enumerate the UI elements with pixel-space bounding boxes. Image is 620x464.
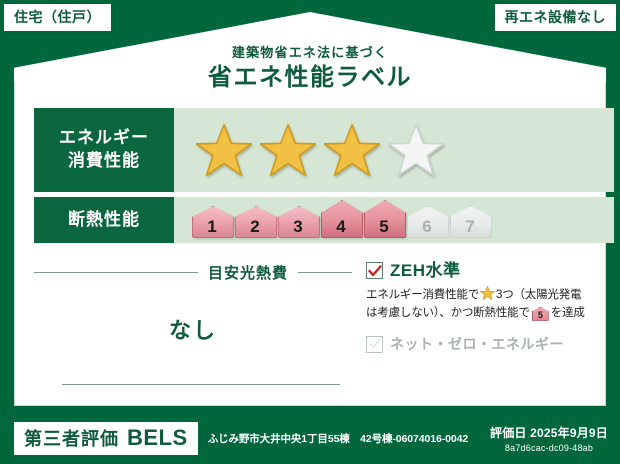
insulation-badge-3-value: 3: [293, 218, 302, 235]
insulation-badge-2-value: 2: [250, 218, 259, 235]
utility-cost-bottom-rule: [62, 384, 340, 385]
zeh-checkbox[interactable]: [366, 262, 383, 279]
zeh-desc-part3: を達成: [551, 307, 585, 319]
star-icon-filled-1: [196, 123, 252, 177]
insulation-badge-5: 5: [364, 202, 404, 238]
insulation-badge-6: 6: [407, 208, 447, 238]
energy-performance-row: エネルギー 消費性能: [34, 108, 614, 192]
zeh-desc-part1: エネルギー消費性能で: [366, 289, 479, 301]
house-shape: 建築物省エネ法に基づく 省エネ性能ラベル エネルギー 消費性能: [14, 12, 606, 406]
lower-section: 目安光熱費 なし ZEH水準 エネルギー消費性能で3つ（太陽光発電: [34, 252, 614, 412]
performance-block: エネルギー 消費性能: [34, 108, 614, 248]
zeh-panel: ZEH水準 エネルギー消費性能で3つ（太陽光発電 は考慮しない）、かつ断熱性能で…: [352, 252, 614, 412]
renewable-energy-tag-label: 再エネ設備なし: [505, 9, 607, 25]
insulation-badge-3: 3: [278, 208, 318, 238]
check-icon: [368, 265, 382, 277]
insulation-level-strip: 1 2 3 4 5: [174, 197, 614, 243]
zeh-description: エネルギー消費性能で3つ（太陽光発電 は考慮しない）、かつ断熱性能で5を達成: [366, 286, 614, 323]
utility-cost-panel: 目安光熱費 なし: [34, 252, 352, 412]
zeh-desc-stars: 3つ（太陽光発電: [496, 289, 581, 301]
insulation-badge-4: 4: [321, 202, 361, 238]
insulation-badge-inline-value: 5: [538, 310, 543, 320]
insulation-label: 断熱性能: [68, 209, 140, 232]
evaluation-date: 評価日 2025年9月9日: [490, 424, 608, 441]
insulation-badge-7: 7: [450, 208, 490, 238]
star-icon-filled-3: [324, 123, 380, 177]
bels-jp-label: 第三者評価: [24, 430, 119, 448]
insulation-badge-2: 2: [235, 208, 275, 238]
utility-cost-value: なし: [34, 313, 352, 345]
utility-cost-rule-left: [34, 272, 198, 273]
insulation-performance-label-cell: 断熱性能: [34, 197, 174, 243]
energy-performance-label: 住宅（住戸） 再エネ設備なし 建築物省エネ法に基づく 省エネ性能ラベル エネルギ…: [0, 0, 620, 464]
insulation-badge-6-value: 6: [422, 218, 431, 235]
property-address: ふじみ野市大井中央1丁目55棟 42号棟-06074016-0042: [208, 431, 468, 446]
net-zero-energy-label: ネット・ゼロ・エネルギー: [390, 337, 564, 351]
renewable-energy-tag: 再エネ設備なし: [495, 4, 617, 31]
star-icon-empty-4: [388, 123, 444, 177]
star-icon-inline: [480, 286, 495, 300]
check-icon-empty: [369, 339, 381, 349]
insulation-badge-1-value: 1: [207, 218, 216, 235]
net-zero-energy-checkbox[interactable]: [366, 336, 383, 353]
energy-label-line2: 消費性能: [68, 150, 140, 173]
footer: 第三者評価 BELS ふじみ野市大井中央1丁目55棟 42号棟-06074016…: [0, 412, 620, 464]
insulation-badge-5-value: 5: [379, 218, 388, 235]
zeh-desc-part2: は考慮しない）、かつ断熱性能で: [366, 307, 530, 319]
energy-star-rating: [174, 108, 614, 192]
building-type-tag-label: 住宅（住戸）: [14, 9, 101, 25]
insulation-badge-7-value: 7: [465, 218, 474, 235]
energy-label-line1: エネルギー: [59, 127, 149, 150]
insulation-badge-1: 1: [192, 208, 232, 238]
evaluation-code: 8a7d6cac-dc09-48ab: [490, 443, 608, 453]
bels-certification-tag: 第三者評価 BELS: [14, 422, 198, 455]
insulation-badge-inline: 5: [532, 307, 549, 321]
utility-cost-rule-right: [298, 272, 352, 273]
zeh-title: ZEH水準: [390, 262, 461, 279]
utility-cost-header: 目安光熱費: [34, 262, 352, 283]
insulation-performance-row: 断熱性能 1 2 3 4: [34, 197, 614, 243]
zeh-header: ZEH水準: [366, 262, 614, 279]
bels-en-label: BELS: [127, 427, 188, 449]
energy-performance-label-cell: エネルギー 消費性能: [34, 108, 174, 192]
star-icon-filled-2: [260, 123, 316, 177]
evaluation-info: 評価日 2025年9月9日 8a7d6cac-dc09-48ab: [490, 424, 608, 453]
insulation-badge-4-value: 4: [336, 218, 345, 235]
net-zero-energy-row: ネット・ゼロ・エネルギー: [366, 336, 614, 353]
building-type-tag: 住宅（住戸）: [4, 4, 111, 31]
utility-cost-title: 目安光熱費: [198, 262, 298, 283]
